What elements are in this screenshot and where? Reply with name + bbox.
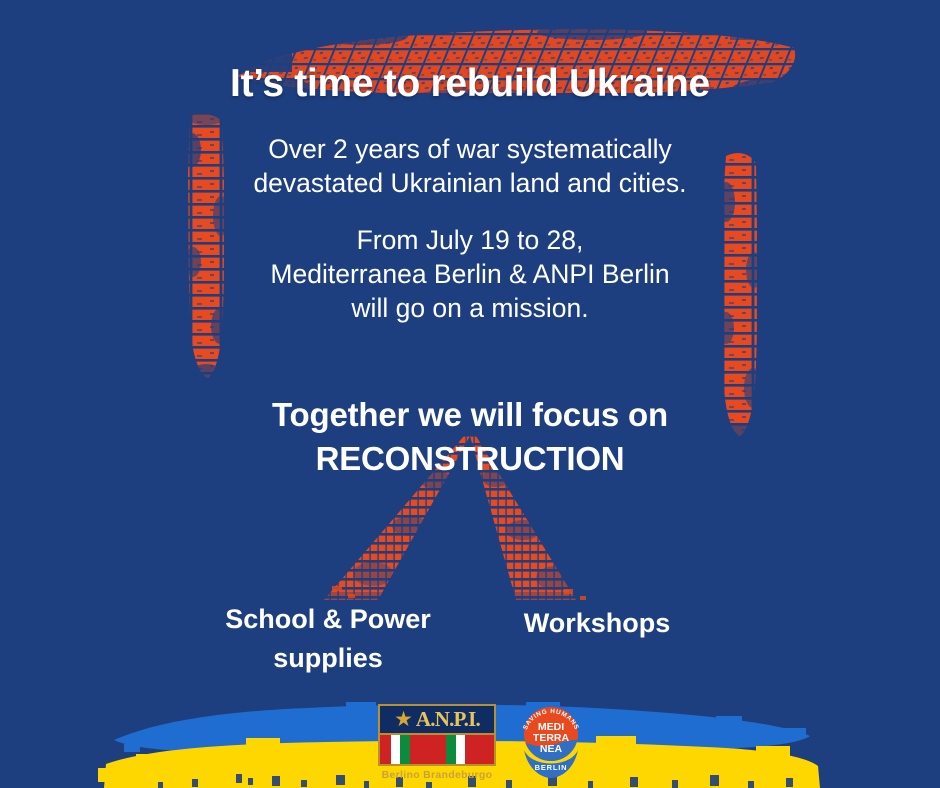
intro-line-2: devastated Ukrainian land and cities.: [0, 167, 940, 201]
mission-paragraph: From July 19 to 28, Mediterranea Berlin …: [0, 224, 940, 326]
page-title: It’s time to rebuild Ukraine: [230, 64, 710, 105]
anpi-wordmark: ★ A.N.P.I.: [380, 706, 494, 733]
poster-canvas: It’s time to rebuild Ukraine: [0, 0, 940, 788]
mission-line-1: From July 19 to 28,: [0, 224, 940, 258]
anpi-italian-ribbon: [380, 733, 494, 764]
focus-item-school-power-supplies: School & Power supplies: [170, 600, 486, 678]
anpi-logo[interactable]: ★ A.N.P.I. Berlino Brandeburgo: [378, 704, 496, 781]
title-container: It’s time to rebuild Ukraine: [0, 38, 940, 131]
anpi-plaque: ★ A.N.P.I.: [378, 704, 496, 766]
intro-paragraph: Over 2 years of war systematically devas…: [0, 133, 940, 201]
anpi-acronym: A.N.P.I.: [416, 709, 480, 730]
focus-heading: Together we will focus on RECONSTRUCTION: [0, 393, 940, 480]
mediterranea-city: BERLIN: [535, 763, 568, 772]
anpi-subtitle: Berlino Brandeburgo: [378, 769, 496, 781]
mediterranea-logo[interactable]: SAVING HUMANS MEDI TERRA NEA BERLIN: [516, 698, 586, 778]
focus-heading-line-1: Together we will focus on: [272, 396, 668, 433]
mission-line-3: will go on a mission.: [0, 292, 940, 326]
star-icon: ★: [394, 709, 413, 730]
mission-line-2: Mediterranea Berlin & ANPI Berlin: [0, 258, 940, 292]
mediterranea-line-3: NEA: [540, 743, 563, 755]
intro-line-1: Over 2 years of war systematically: [0, 133, 940, 167]
focus-heading-line-2: RECONSTRUCTION: [0, 437, 940, 481]
focus-item-workshops: Workshops: [470, 604, 724, 643]
